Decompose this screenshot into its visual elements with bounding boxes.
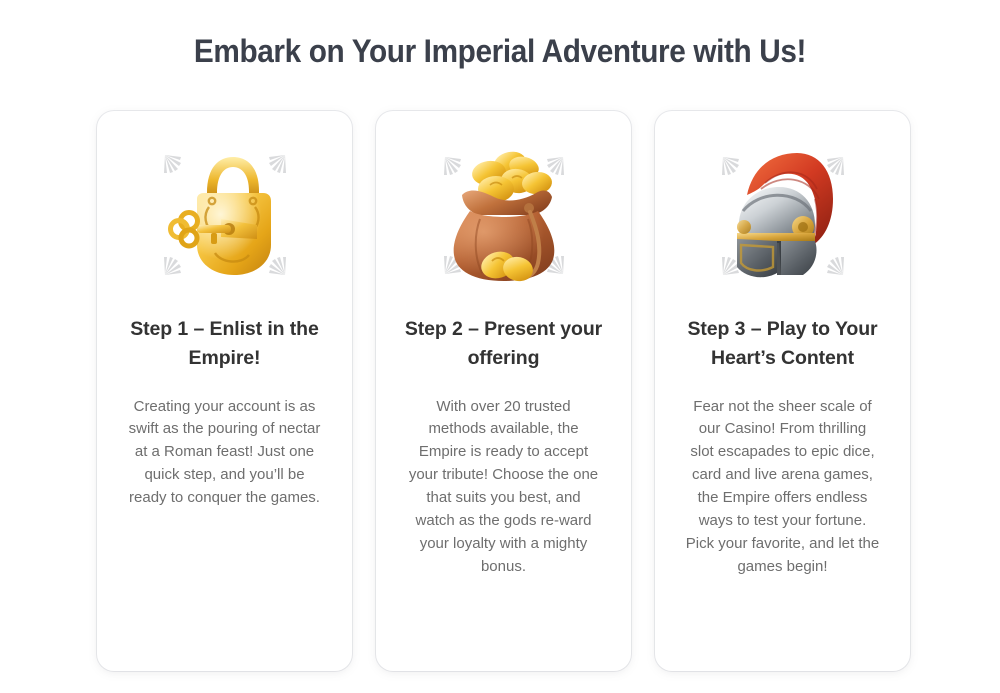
step-card-1[interactable]: Step 1 – Enlist in the Empire! Creating … [97, 111, 352, 671]
step-3-body: Fear not the sheer scale of our Casino! … [685, 396, 880, 580]
money-bag-with-gold-coins-icon [424, 141, 584, 291]
roman-centurion-helmet-icon [703, 141, 863, 291]
step-2-title: Step 2 – Present your offering [401, 315, 606, 374]
helmet-nose-guard [777, 241, 781, 275]
page-title: Embark on Your Imperial Adventure with U… [35, 33, 965, 70]
steps-card-row: Step 1 – Enlist in the Empire! Creating … [97, 111, 910, 671]
golden-padlock-with-key-icon [145, 141, 305, 291]
step-2-body: With over 20 trusted methods available, … [406, 396, 601, 580]
step-3-title: Step 3 – Play to Your Heart’s Content [680, 315, 885, 374]
step-1-body: Creating your account is as swift as the… [127, 396, 322, 511]
step-card-3[interactable]: Step 3 – Play to Your Heart’s Content Fe… [655, 111, 910, 671]
step-3-icon-container [703, 141, 863, 291]
step-card-2[interactable]: Step 2 – Present your offering With over… [376, 111, 631, 671]
helmet-temple-rosette [737, 220, 751, 234]
step-1-title: Step 1 – Enlist in the Empire! [122, 315, 327, 374]
helmet-neck-guard [779, 241, 817, 275]
step-2-icon-container [424, 141, 584, 291]
step-1-icon-container [145, 141, 305, 291]
